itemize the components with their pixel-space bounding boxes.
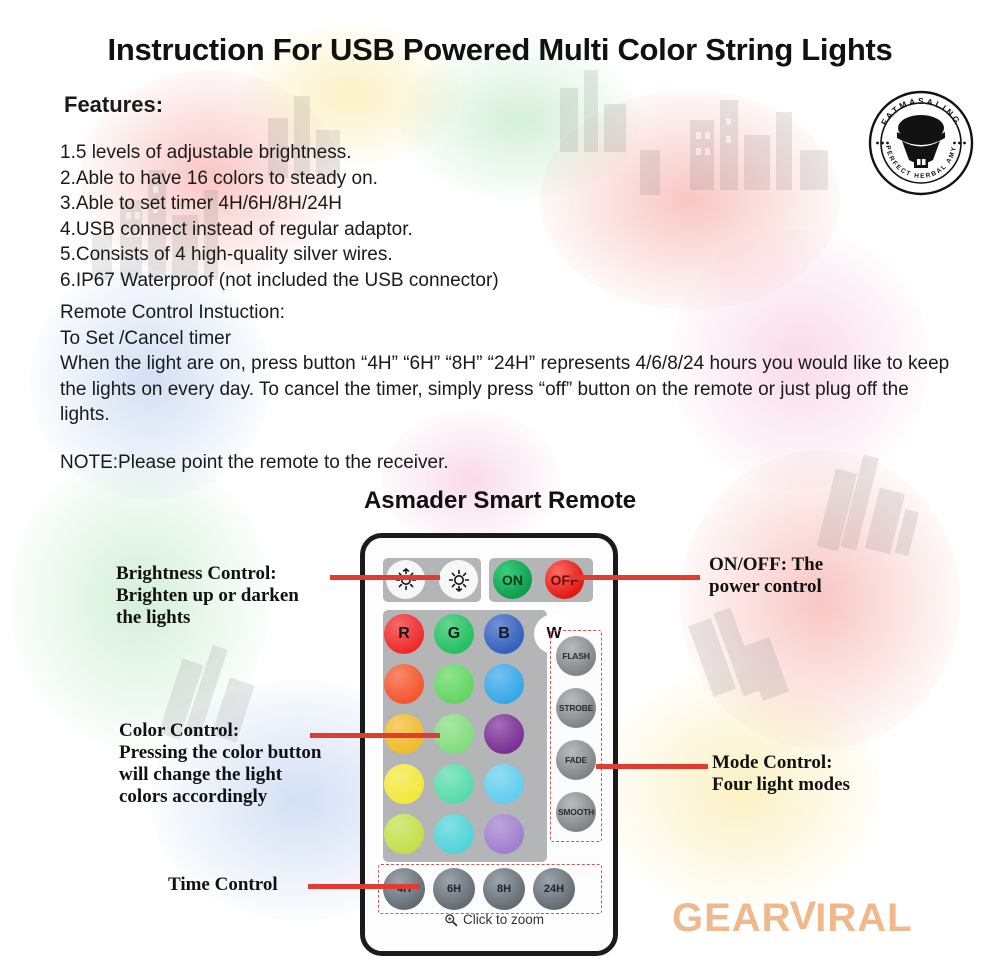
timer-button-24h[interactable]: 24H (533, 868, 575, 910)
color-button-r5c2[interactable] (434, 814, 474, 854)
callout-line: colors accordingly (119, 786, 322, 808)
feature-item: 5.Consists of 4 high-quality silver wire… (60, 242, 499, 268)
callout-line: Pressing the color button (119, 742, 322, 764)
timer-button-6h[interactable]: 6H (433, 868, 475, 910)
brand-stamp-logo: FATMASALING PERFECT HERBAL AMY (866, 88, 976, 198)
callout-line: the lights (116, 607, 299, 629)
leader-line-time (308, 884, 420, 889)
callout-line: power control (709, 576, 823, 598)
callout-time-control: Time Control (168, 874, 278, 896)
callout-color-control: Color Control: Pressing the color button… (119, 720, 322, 808)
feature-item: 3.Able to set timer 4H/6H/8H/24H (60, 191, 499, 217)
color-button-r2c1[interactable] (384, 664, 424, 704)
color-button-r2c2[interactable] (434, 664, 474, 704)
instruction-body: When the light are on, press button “4H”… (60, 351, 950, 428)
remote-title: Asmader Smart Remote (0, 487, 1000, 515)
color-button-blue[interactable]: B (484, 614, 524, 654)
color-button-r5c3[interactable] (484, 814, 524, 854)
callout-line: Time Control (168, 874, 278, 896)
instruction-subheading: To Set /Cancel timer (60, 326, 950, 352)
callout-mode-control: Mode Control: Four light modes (712, 752, 850, 796)
leader-line-onoff (570, 575, 700, 580)
color-button-r4c1[interactable] (384, 764, 424, 804)
magnifier-icon (444, 913, 458, 927)
remote-control-image[interactable]: ON OFF R G B W FLASH STROBE FADE SMOOTH … (360, 533, 618, 956)
click-to-zoom-hint[interactable]: Click to zoom (365, 912, 613, 927)
mode-button-smooth[interactable]: SMOOTH (556, 792, 596, 832)
callout-line: Four light modes (712, 774, 850, 796)
color-button-green[interactable]: G (434, 614, 474, 654)
leader-line-mode (596, 764, 708, 769)
callout-line: Brightness Control: (116, 563, 299, 585)
callout-onoff-control: ON/OFF: The power control (709, 554, 823, 598)
watermark-check-icon: V (790, 894, 818, 939)
color-button-r3c2[interactable] (434, 714, 474, 754)
color-button-r3c3[interactable] (484, 714, 524, 754)
sun-dim-icon (447, 568, 471, 592)
feature-item: 2.Able to have 16 colors to steady on. (60, 166, 499, 192)
callout-line: Brighten up or darken (116, 585, 299, 607)
remote-control-instruction: Remote Control Instuction: To Set /Cance… (60, 300, 950, 475)
callout-line: will change the light (119, 764, 322, 786)
callout-line: Color Control: (119, 720, 322, 742)
features-heading: Features: (64, 92, 163, 118)
color-button-r5c1[interactable] (384, 814, 424, 854)
gearviral-watermark: GEAR V IRAL (672, 896, 913, 941)
feature-item: 6.IP67 Waterproof (not included the USB … (60, 268, 499, 294)
watermark-part2: IRAL (815, 896, 912, 941)
color-button-r4c3[interactable] (484, 764, 524, 804)
watermark-part1: GEAR (672, 896, 792, 941)
timer-button-4h[interactable]: 4H (383, 868, 425, 910)
color-button-r2c3[interactable] (484, 664, 524, 704)
mode-button-strobe[interactable]: STROBE (556, 688, 596, 728)
feature-item: 1.5 levels of adjustable brightness. (60, 140, 499, 166)
color-button-red[interactable]: R (384, 614, 424, 654)
mode-button-fade[interactable]: FADE (556, 740, 596, 780)
remote-face: ON OFF R G B W FLASH STROBE FADE SMOOTH … (365, 538, 613, 951)
brightness-down-button[interactable] (439, 560, 478, 599)
features-list: 1.5 levels of adjustable brightness. 2.A… (60, 140, 499, 293)
page-title: Instruction For USB Powered Multi Color … (0, 32, 1000, 68)
feature-item: 4.USB connect instead of regular adaptor… (60, 217, 499, 243)
instruction-note: NOTE:Please point the remote to the rece… (60, 450, 950, 476)
leader-line-brightness (330, 575, 440, 580)
timer-button-8h[interactable]: 8H (483, 868, 525, 910)
power-on-button[interactable]: ON (493, 560, 532, 599)
mode-button-flash[interactable]: FLASH (556, 636, 596, 676)
instruction-heading: Remote Control Instuction: (60, 300, 950, 326)
callout-line: ON/OFF: The (709, 554, 823, 576)
callout-line: Mode Control: (712, 752, 850, 774)
leader-line-color (310, 733, 440, 738)
zoom-hint-label: Click to zoom (463, 912, 544, 927)
color-button-r4c2[interactable] (434, 764, 474, 804)
callout-brightness-control: Brightness Control: Brighten up or darke… (116, 563, 299, 629)
